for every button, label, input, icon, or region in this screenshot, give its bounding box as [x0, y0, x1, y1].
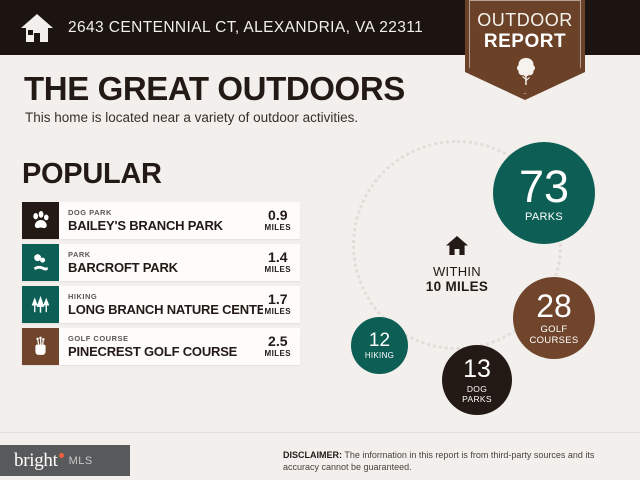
- popular-heading: POPULAR: [22, 158, 162, 191]
- property-address: 2643 CENTENNIAL CT, ALEXANDRIA, VA 22311: [68, 19, 423, 37]
- disclaimer-label: DISCLAIMER:: [283, 450, 342, 460]
- logo-main-text: bright: [14, 450, 58, 472]
- page-subtitle: This home is located near a variety of o…: [25, 110, 358, 125]
- badge-line2: REPORT: [465, 31, 585, 53]
- list-item-name: BARCROFT PARK: [68, 260, 263, 275]
- bubble-golf-label-line2: COURSES: [529, 335, 578, 346]
- list-item[interactable]: GOLF COURSE PINECREST GOLF COURSE 2.5 MI…: [22, 328, 300, 365]
- tree-icon: [515, 56, 537, 86]
- list-item-distance: 2.5: [268, 334, 287, 349]
- list-item-distance: 1.7: [268, 292, 287, 307]
- list-item-name: PINECREST GOLF COURSE: [68, 344, 263, 359]
- list-item[interactable]: HIKING LONG BRANCH NATURE CENTER 1.7 MIL…: [22, 286, 300, 323]
- list-item[interactable]: DOG PARK BAILEY'S BRANCH PARK 0.9 MILES: [22, 202, 300, 239]
- disclaimer: DISCLAIMER: The information in this repo…: [283, 449, 613, 473]
- list-item-unit: MILES: [265, 265, 291, 275]
- list-item-category: HIKING: [68, 292, 263, 302]
- list-item-category: PARK: [68, 250, 263, 260]
- chart-center: WITHIN 10 MILES: [392, 235, 522, 294]
- home-icon: [20, 13, 54, 43]
- park-icon: [22, 244, 59, 281]
- bubble-golf-label-line1: GOLF: [540, 324, 567, 335]
- list-item-unit: MILES: [265, 307, 291, 317]
- list-item-name: BAILEY'S BRANCH PARK: [68, 218, 263, 233]
- outdoor-report-badge: OUTDOOR REPORT: [465, 0, 585, 100]
- within-10-miles-chart: WITHIN 10 MILES 73 PARKS 28 GOLF COURSES…: [330, 130, 630, 430]
- bright-mls-logo: bright MLS: [0, 445, 130, 476]
- list-item-distance: 1.4: [268, 250, 287, 265]
- list-item-name: LONG BRANCH NATURE CENTER: [68, 302, 263, 317]
- list-item-distance: 0.9: [268, 208, 287, 223]
- bubble-golf-value: 28: [536, 290, 572, 322]
- bubble-golf-courses[interactable]: 28 GOLF COURSES: [513, 277, 595, 359]
- bubble-dog-value: 13: [463, 357, 491, 382]
- paw-icon: [22, 202, 59, 239]
- golf-bag-icon: [22, 328, 59, 365]
- footer-divider: [0, 432, 640, 433]
- logo-sub-text: MLS: [69, 455, 93, 467]
- list-item-category: DOG PARK: [68, 208, 263, 218]
- list-item-category: GOLF COURSE: [68, 334, 263, 344]
- bubble-dog-label-line1: DOG: [467, 384, 487, 394]
- logo-dot-icon: [59, 453, 64, 458]
- badge-line1: OUTDOOR: [465, 10, 585, 31]
- bubble-parks[interactable]: 73 PARKS: [493, 142, 595, 244]
- bubble-hiking[interactable]: 12 HIKING: [351, 317, 408, 374]
- list-item-unit: MILES: [265, 223, 291, 233]
- list-item-unit: MILES: [265, 349, 291, 359]
- bubble-hiking-value: 12: [369, 331, 390, 350]
- bubble-hiking-label: HIKING: [365, 352, 394, 360]
- bubble-dog-parks[interactable]: 13 DOG PARKS: [442, 345, 512, 415]
- page-title: THE GREAT OUTDOORS: [24, 70, 405, 108]
- bubble-parks-value: 73: [519, 164, 569, 209]
- bubble-parks-label: PARKS: [525, 212, 563, 223]
- list-item[interactable]: PARK BARCROFT PARK 1.4 MILES: [22, 244, 300, 281]
- popular-list: DOG PARK BAILEY'S BRANCH PARK 0.9 MILES …: [22, 202, 300, 370]
- center-line1: WITHIN: [392, 264, 522, 279]
- center-line2: 10 MILES: [392, 279, 522, 294]
- bubble-dog-label-line2: PARKS: [462, 394, 492, 404]
- home-icon: [445, 235, 469, 256]
- pine-trees-icon: [22, 286, 59, 323]
